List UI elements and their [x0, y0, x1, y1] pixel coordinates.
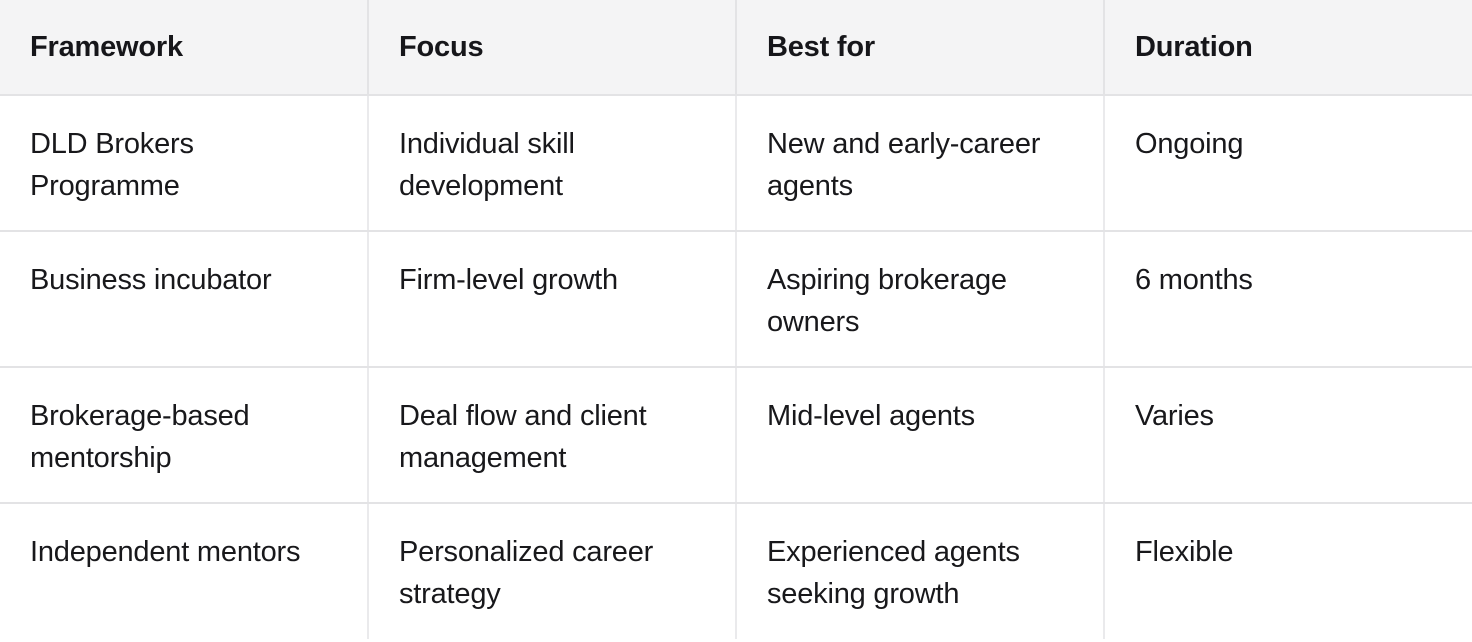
cell-framework-text: DLD Brokers Programme — [30, 124, 339, 208]
column-header-duration: Duration — [1104, 0, 1472, 95]
column-header-best-for: Best for — [736, 0, 1104, 95]
cell-focus-text: Deal flow and client management — [399, 396, 707, 480]
cell-framework: DLD Brokers Programme — [0, 95, 368, 231]
cell-focus: Firm-level growth — [368, 231, 736, 367]
column-header-focus: Focus — [368, 0, 736, 95]
column-header-framework-label: Framework — [30, 29, 347, 65]
cell-focus: Individual skill development — [368, 95, 736, 231]
cell-framework-text: Independent mentors — [30, 532, 339, 574]
table-header: Framework Focus Best for Duration — [0, 0, 1472, 95]
cell-duration-text: 6 months — [1135, 260, 1444, 302]
cell-focus-text: Firm-level growth — [399, 260, 707, 302]
cell-best-for-text: Mid-level agents — [767, 396, 1075, 438]
table-header-row: Framework Focus Best for Duration — [0, 0, 1472, 95]
cell-duration: Ongoing — [1104, 95, 1472, 231]
cell-focus-text: Individual skill development — [399, 124, 707, 208]
cell-focus-text: Personalized career strategy — [399, 532, 707, 616]
table-row: Independent mentors Personalized career … — [0, 503, 1472, 639]
column-header-focus-label: Focus — [399, 29, 715, 65]
column-header-duration-label: Duration — [1135, 29, 1452, 65]
cell-framework: Business incubator — [0, 231, 368, 367]
cell-focus: Deal flow and client management — [368, 367, 736, 503]
mentorship-frameworks-table: Framework Focus Best for Duration DLD Br… — [0, 0, 1472, 639]
cell-duration-text: Varies — [1135, 396, 1444, 438]
cell-best-for-text: New and early-career agents — [767, 124, 1075, 208]
column-header-best-for-label: Best for — [767, 29, 1083, 65]
cell-best-for-text: Aspiring brokerage owners — [767, 260, 1075, 344]
table-row: Brokerage-based mentorship Deal flow and… — [0, 367, 1472, 503]
column-header-framework: Framework — [0, 0, 368, 95]
cell-framework-text: Business incubator — [30, 260, 339, 302]
cell-duration: Flexible — [1104, 503, 1472, 639]
cell-duration-text: Ongoing — [1135, 124, 1444, 166]
comparison-table-container: Framework Focus Best for Duration DLD Br… — [0, 0, 1472, 642]
table-row: DLD Brokers Programme Individual skill d… — [0, 95, 1472, 231]
cell-best-for: Mid-level agents — [736, 367, 1104, 503]
cell-framework: Brokerage-based mentorship — [0, 367, 368, 503]
table-body: DLD Brokers Programme Individual skill d… — [0, 95, 1472, 639]
cell-duration-text: Flexible — [1135, 532, 1444, 574]
cell-best-for-text: Experienced agents seeking growth — [767, 532, 1075, 616]
cell-duration: Varies — [1104, 367, 1472, 503]
cell-best-for: Aspiring brokerage owners — [736, 231, 1104, 367]
cell-best-for: New and early-career agents — [736, 95, 1104, 231]
cell-framework-text: Brokerage-based mentorship — [30, 396, 339, 480]
cell-focus: Personalized career strategy — [368, 503, 736, 639]
table-row: Business incubator Firm-level growth Asp… — [0, 231, 1472, 367]
cell-duration: 6 months — [1104, 231, 1472, 367]
cell-framework: Independent mentors — [0, 503, 368, 639]
cell-best-for: Experienced agents seeking growth — [736, 503, 1104, 639]
